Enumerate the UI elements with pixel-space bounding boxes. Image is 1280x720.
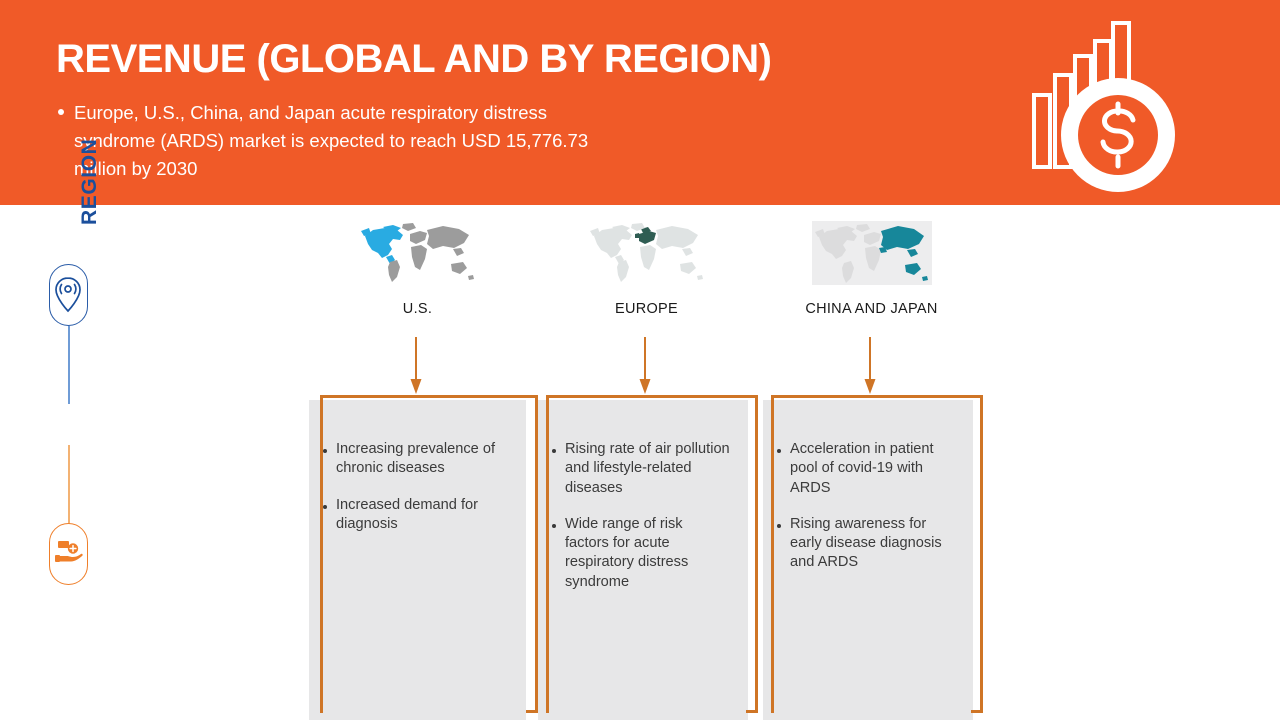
world-map-asia-highlighted-icon [812,221,932,285]
map-label-europe: EUROPE [538,301,755,317]
region-columns: U.S. Increasing prevalence of chronic di… [0,205,1280,720]
arrow-down-china-japan [864,337,876,395]
bracket-left-edge [546,395,549,713]
region-column-europe: EUROPE Rising rate of air pollution and … [538,205,755,720]
header-banner: REVENUE (GLOBAL AND BY REGION) Europe, U… [0,0,1280,205]
bracket-left-edge [320,395,323,713]
bracket-top-edge [546,395,758,398]
bracket-top-edge [320,395,538,398]
header-summary-text: Europe, U.S., China, and Japan acute res… [74,99,614,183]
world-map-us-highlighted-icon [359,222,477,284]
map-label-us: U.S. [309,301,526,317]
bracket-left-edge [771,395,774,713]
page-title: REVENUE (GLOBAL AND BY REGION) [56,38,771,80]
region-column-china-japan: CHINA AND JAPAN Acceleration in patient … [763,205,980,720]
world-map-europe-highlighted-icon [588,222,706,284]
map-europe-wrap [538,219,755,287]
arrow-down-europe [639,337,651,395]
map-asia-wrap [763,219,980,287]
bracket-foot-right [971,710,983,713]
bracket-foot-right [746,710,758,713]
bracket-right-edge [980,395,983,713]
bullet-dot-icon [58,109,64,115]
region-column-us: U.S. Increasing prevalence of chronic di… [309,205,526,720]
map-us-wrap [309,219,526,287]
header-summary-bullet: Europe, U.S., China, and Japan acute res… [58,99,614,183]
arrow-down-us [410,337,422,395]
bracket-europe [546,395,758,720]
map-label-china-japan: CHINA AND JAPAN [763,301,980,317]
revenue-bar-chart-dollar-icon [1000,10,1215,200]
bracket-china-japan [771,395,983,720]
bracket-right-edge [755,395,758,713]
bracket-us [320,395,538,720]
bracket-foot-right [526,710,538,713]
bracket-top-edge [771,395,983,398]
